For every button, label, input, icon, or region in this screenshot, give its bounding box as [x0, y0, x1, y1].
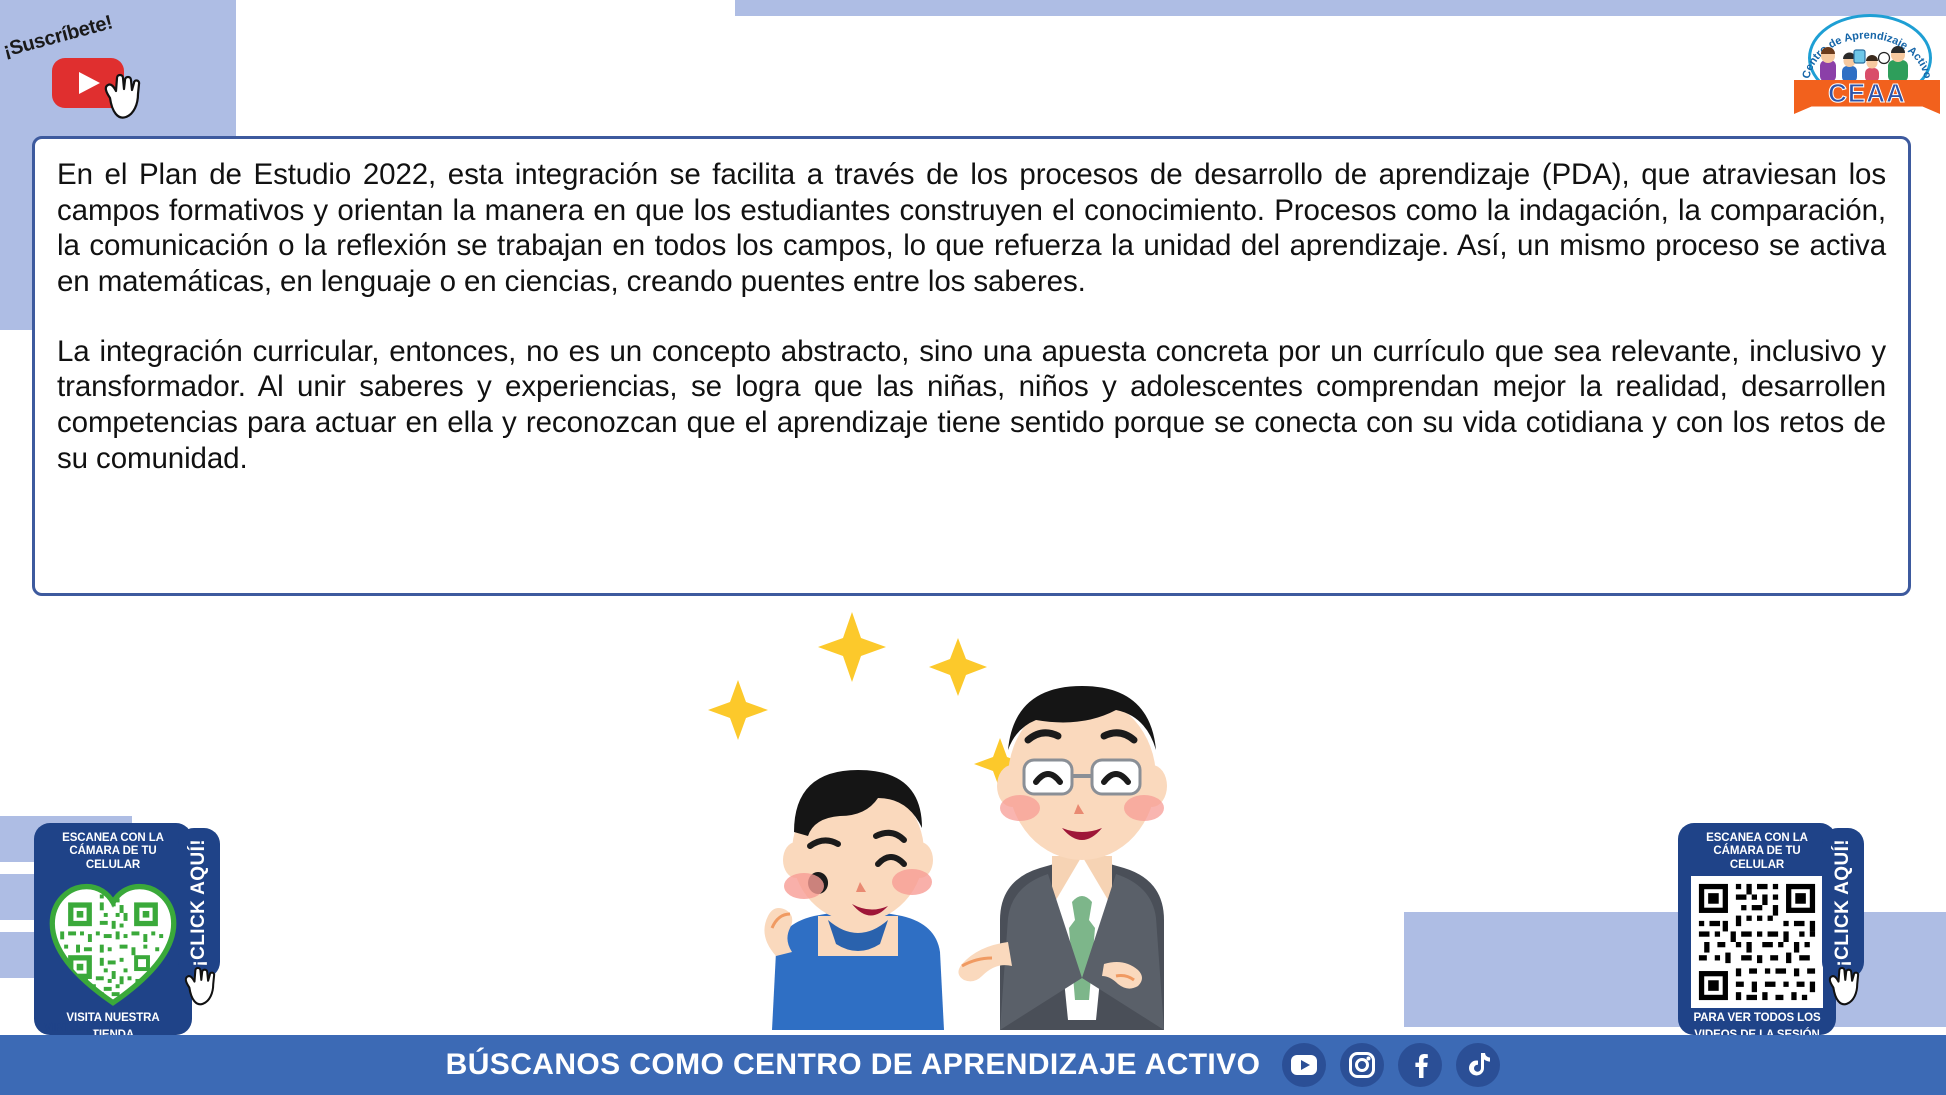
click-here-label-right: ¡CLICK AQUÍ! — [1832, 839, 1854, 967]
paragraph-1: En el Plan de Estudio 2022, esta integra… — [57, 157, 1886, 300]
social-icons — [1282, 1043, 1500, 1087]
click-here-tab-right[interactable]: ¡CLICK AQUÍ! — [1822, 828, 1864, 978]
qr-right-bottom-line1: PARA VER TODOS LOS — [1686, 1012, 1828, 1025]
ceaa-logo: Centro de Aprendizaje Activo CEAA — [1794, 14, 1940, 114]
subscribe-badge[interactable]: ¡Suscríbete! — [4, 10, 184, 120]
youtube-icon[interactable] — [1282, 1043, 1326, 1087]
slide-canvas: ¡Suscríbete! Centro de Aprendizaje Activ… — [0, 0, 1946, 1095]
qr-right-top-line1: ESCANEA CON LA — [1686, 832, 1828, 845]
facebook-icon[interactable] — [1398, 1043, 1442, 1087]
logo-banner: CEAA — [1794, 80, 1940, 114]
click-here-label-left: ¡CLICK AQUÍ! — [188, 839, 210, 967]
footer-bar: BÚSCANOS COMO CENTRO DE APRENDIZAJE ACTI… — [0, 1035, 1946, 1095]
tiktok-icon[interactable] — [1456, 1043, 1500, 1087]
hand-pointer-icon-right — [1824, 962, 1870, 1008]
man-figure — [958, 686, 1167, 1030]
boy-figure — [764, 770, 944, 1030]
decor-strip-top — [735, 0, 1946, 16]
paragraph-2: La integración curricular, entonces, no … — [57, 334, 1886, 477]
square-black-qr-code[interactable] — [1691, 876, 1823, 1008]
logo-acronym: CEAA — [1828, 80, 1906, 106]
click-here-tab-left[interactable]: ¡CLICK AQUÍ! — [178, 828, 220, 978]
qr-left-bottom-line3: VIRTUAL — [44, 1022, 94, 1034]
qr-left-top-line1: ESCANEA CON LA — [42, 832, 184, 845]
footer-text: BÚSCANOS COMO CENTRO DE APRENDIZAJE ACTI… — [446, 1048, 1261, 1082]
instagram-icon[interactable] — [1340, 1043, 1384, 1087]
content-text-box: En el Plan de Estudio 2022, esta integra… — [32, 136, 1911, 596]
sparkle-stars — [708, 612, 1026, 790]
subscribe-label: ¡Suscríbete! — [1, 11, 115, 62]
qr-left-top-line2: CÁMARA DE TU CELULAR — [42, 845, 184, 872]
qr-card-videos[interactable]: ESCANEA CON LA CÁMARA DE TU CELULAR — [1678, 823, 1836, 1035]
logo-people-illustration — [1816, 44, 1920, 86]
qr-right-top-line2: CÁMARA DE TU CELULAR — [1686, 845, 1828, 872]
teacher-and-student-illustration — [700, 590, 1260, 1030]
qr-card-store[interactable]: ESCANEA CON LA CÁMARA DE TU CELULAR — [34, 823, 192, 1035]
hand-pointer-icon — [100, 68, 152, 122]
hand-pointer-icon-left — [180, 962, 226, 1008]
heart-shaped-green-qr-code[interactable] — [47, 876, 179, 1008]
